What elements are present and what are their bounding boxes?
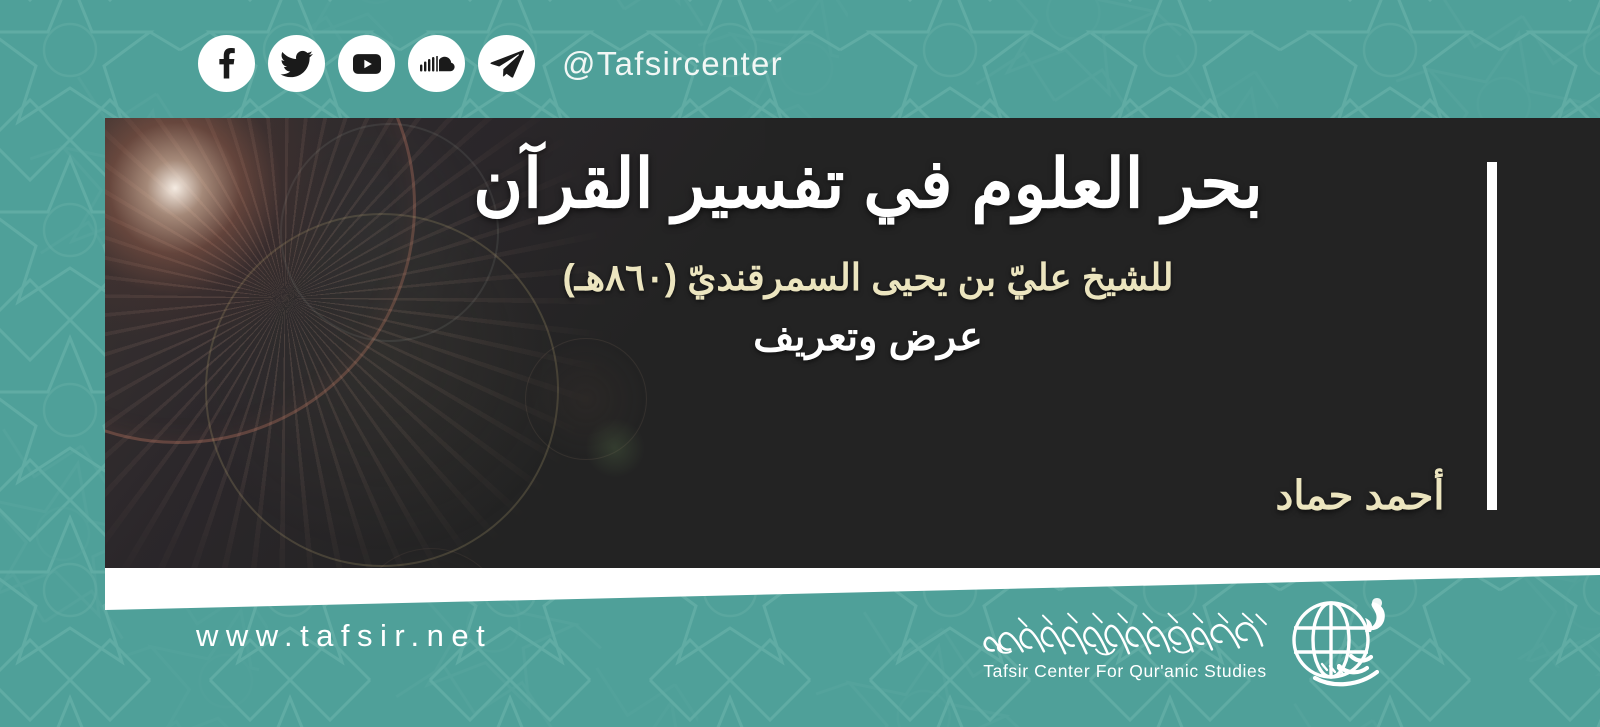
- poster-subtitle-secondary: عرض وتعريف: [458, 311, 1278, 363]
- logo-arabic-calligraphy: [980, 603, 1270, 659]
- poster-canvas: @Tafsircenter بحر العلوم في تفسير القرآن…: [0, 0, 1600, 727]
- website-url[interactable]: www.tafsir.net: [196, 618, 492, 654]
- lens-flare-core: [105, 118, 340, 353]
- author-name: أحمد حماد: [1276, 474, 1445, 518]
- telegram-icon[interactable]: [478, 35, 535, 92]
- soundcloud-icon[interactable]: [408, 35, 465, 92]
- social-links-bar[interactable]: @Tafsircenter: [198, 35, 783, 92]
- social-handle: @Tafsircenter: [562, 45, 783, 83]
- dark-content-panel: بحر العلوم في تفسير القرآن للشيخ عليّ بن…: [105, 118, 1600, 568]
- globe-calligraphy-emblem-icon: [1281, 592, 1393, 692]
- author-block: أحمد حماد: [105, 473, 1600, 519]
- title-block: بحر العلوم في تفسير القرآن للشيخ عليّ بن…: [458, 142, 1278, 363]
- facebook-icon[interactable]: [198, 35, 255, 92]
- lens-flare-orb-green: [585, 418, 645, 478]
- twitter-icon[interactable]: [268, 35, 325, 92]
- lens-flare-ring-f: [355, 548, 507, 568]
- youtube-icon[interactable]: [338, 35, 395, 92]
- vertical-accent-bar: [1487, 162, 1497, 510]
- logo-english-name: Tafsir Center For Qur'anic Studies: [983, 661, 1266, 682]
- page-title: بحر العلوم في تفسير القرآن: [458, 142, 1278, 227]
- tafsir-center-logo[interactable]: Tafsir Center For Qur'anic Studies: [975, 592, 1395, 692]
- lens-flare-ring-large: [105, 118, 416, 444]
- poster-subtitle: للشيخ عليّ بن يحيى السمرقنديّ (٨٦٠هـ): [458, 253, 1278, 303]
